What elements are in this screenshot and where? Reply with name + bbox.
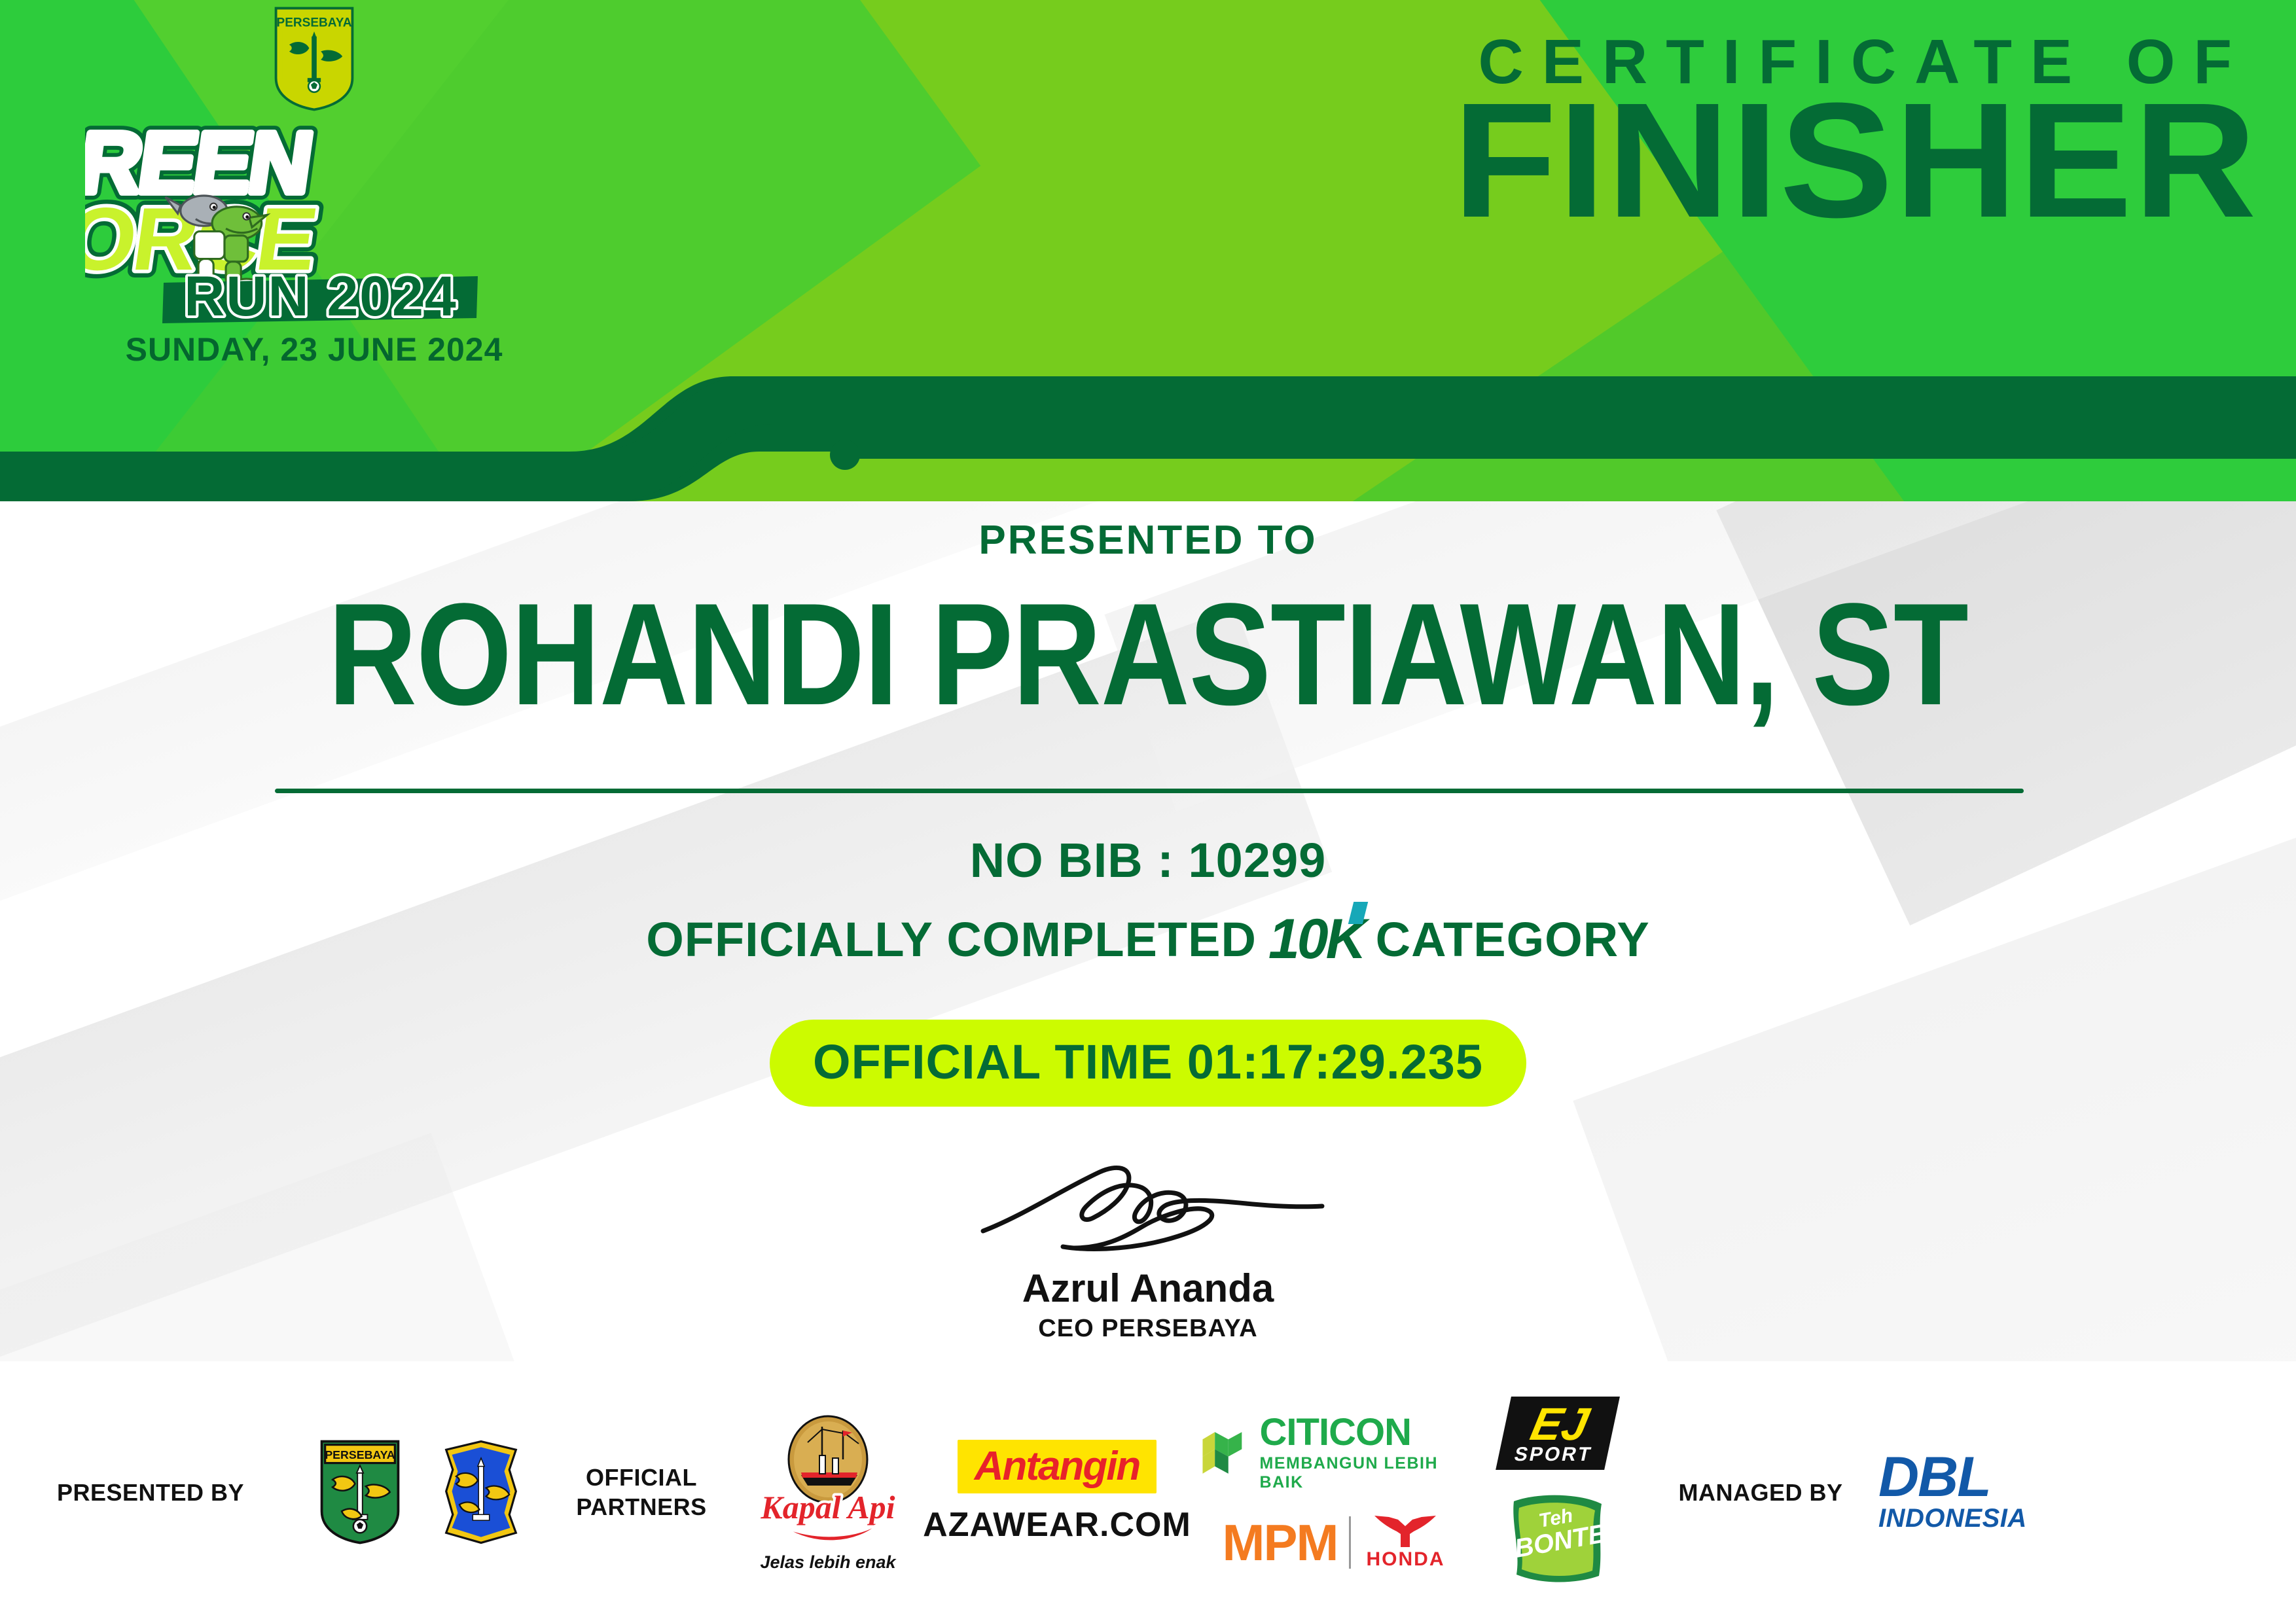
signatory-name: Azrul Ananda [0, 1266, 2296, 1311]
sponsor-footer: PRESENTED BY PERSEBAYA [0, 1361, 2296, 1623]
sponsor-ej-bonteh: EJ SPORT Teh BONTEH [1473, 1397, 1643, 1588]
kapal-api-tagline: Jelas lebih enak [760, 1552, 895, 1573]
citicon-logo: CITICON MEMBANGUN LEBIH BAIK [1198, 1414, 1473, 1492]
decorative-dot [830, 440, 860, 470]
signature-block: Azrul Ananda CEO PERSEBAYA [0, 1155, 2296, 1343]
decorative-line [859, 452, 2296, 459]
teh-bonteh-logo-icon: Teh BONTEH [1502, 1489, 1613, 1588]
event-date: SUNDAY, 23 JUNE 2024 [52, 330, 576, 368]
citicon-tagline: MEMBANGUN LEBIH BAIK [1260, 1454, 1473, 1492]
name-separator-rule [275, 789, 2024, 793]
category-prefix: OFFICIALLY COMPLETED [646, 912, 1257, 967]
signatory-title: CEO PERSEBAYA [0, 1315, 2296, 1343]
bib-number-text: NO BIB : 10299 [0, 832, 2296, 888]
azawear-word: AZAWEAR.COM [923, 1505, 1191, 1544]
honda-wing-icon [1363, 1514, 1448, 1548]
presented-by-label: PRESENTED BY [0, 1478, 301, 1507]
sponsor-antangin-azawear: Antangin AZAWEAR.COM [916, 1440, 1198, 1544]
antangin-word: Antangin [975, 1446, 1140, 1487]
official-partners-label: OFFICIAL PARTNERS [543, 1463, 740, 1522]
greenforce-run-logo: GREEN GREEN GREEN FORCE FORCE FORCE [85, 107, 543, 323]
ej-sport-logo: EJ SPORT [1496, 1397, 1620, 1470]
category-line: OFFICIALLY COMPLETED 10K CATEGORY [0, 911, 2296, 967]
citicon-word: CITICON [1260, 1414, 1473, 1452]
mpm-honda-logo: MPM HONDA [1223, 1514, 1448, 1571]
persebaya-crest-icon: PERSEBAYA [318, 1440, 402, 1544]
official-time-text: OFFICIAL TIME 01:17:29.235 [813, 1035, 1483, 1089]
crest-label: PERSEBAYA [277, 16, 352, 29]
mpm-word: MPM [1223, 1517, 1338, 1568]
logo-line3: RUN 2024 [184, 265, 457, 323]
managed-by-label: MANAGED BY [1643, 1478, 1878, 1507]
finisher-title: FINISHER [1453, 79, 2258, 242]
dbl-word: DBL [1878, 1451, 1990, 1505]
presented-to-label: PRESENTED TO [0, 517, 2296, 563]
surabaya-crest-icon [439, 1440, 523, 1544]
ej-word: EJ [1516, 1403, 1603, 1445]
category-suffix: CATEGORY [1376, 912, 1650, 967]
signature-icon [945, 1155, 1351, 1260]
official-time-badge: OFFICIAL TIME 01:17:29.235 [770, 1020, 1526, 1107]
kapal-api-word: Kapal Api [760, 1489, 895, 1525]
certificate: PERSEBAYA GREEN GREEN GREEN FORCE FORCE … [0, 0, 2296, 1623]
sponsor-persebaya: PERSEBAYA [301, 1440, 419, 1544]
sponsor-surabaya-city [419, 1440, 543, 1544]
event-logo-block: PERSEBAYA GREEN GREEN GREEN FORCE FORCE … [52, 7, 576, 368]
crest-label: PERSEBAYA [325, 1448, 395, 1461]
sponsor-citicon-mpm: CITICON MEMBANGUN LEBIH BAIK MPM HONDA [1198, 1414, 1473, 1571]
category-10k-logo: 10K [1268, 911, 1364, 967]
sponsor-dbl-indonesia: DBL INDONESIA [1878, 1451, 2166, 1534]
ej-tagline: SPORT [1513, 1445, 1594, 1465]
antangin-logo: Antangin [958, 1440, 1157, 1493]
sponsor-kapal-api: Kapal Api Kapal Api Jelas lebih enak [740, 1412, 916, 1573]
persebaya-crest-icon: PERSEBAYA [272, 7, 356, 111]
citicon-mark-icon [1198, 1423, 1249, 1483]
recipient-name: ROHANDI PRASTIAWAN, ST [0, 571, 2296, 738]
kapal-api-logo-icon: Kapal Api Kapal Api [759, 1412, 897, 1550]
honda-word: HONDA [1363, 1548, 1448, 1571]
dbl-tagline: INDONESIA [1878, 1504, 2027, 1533]
